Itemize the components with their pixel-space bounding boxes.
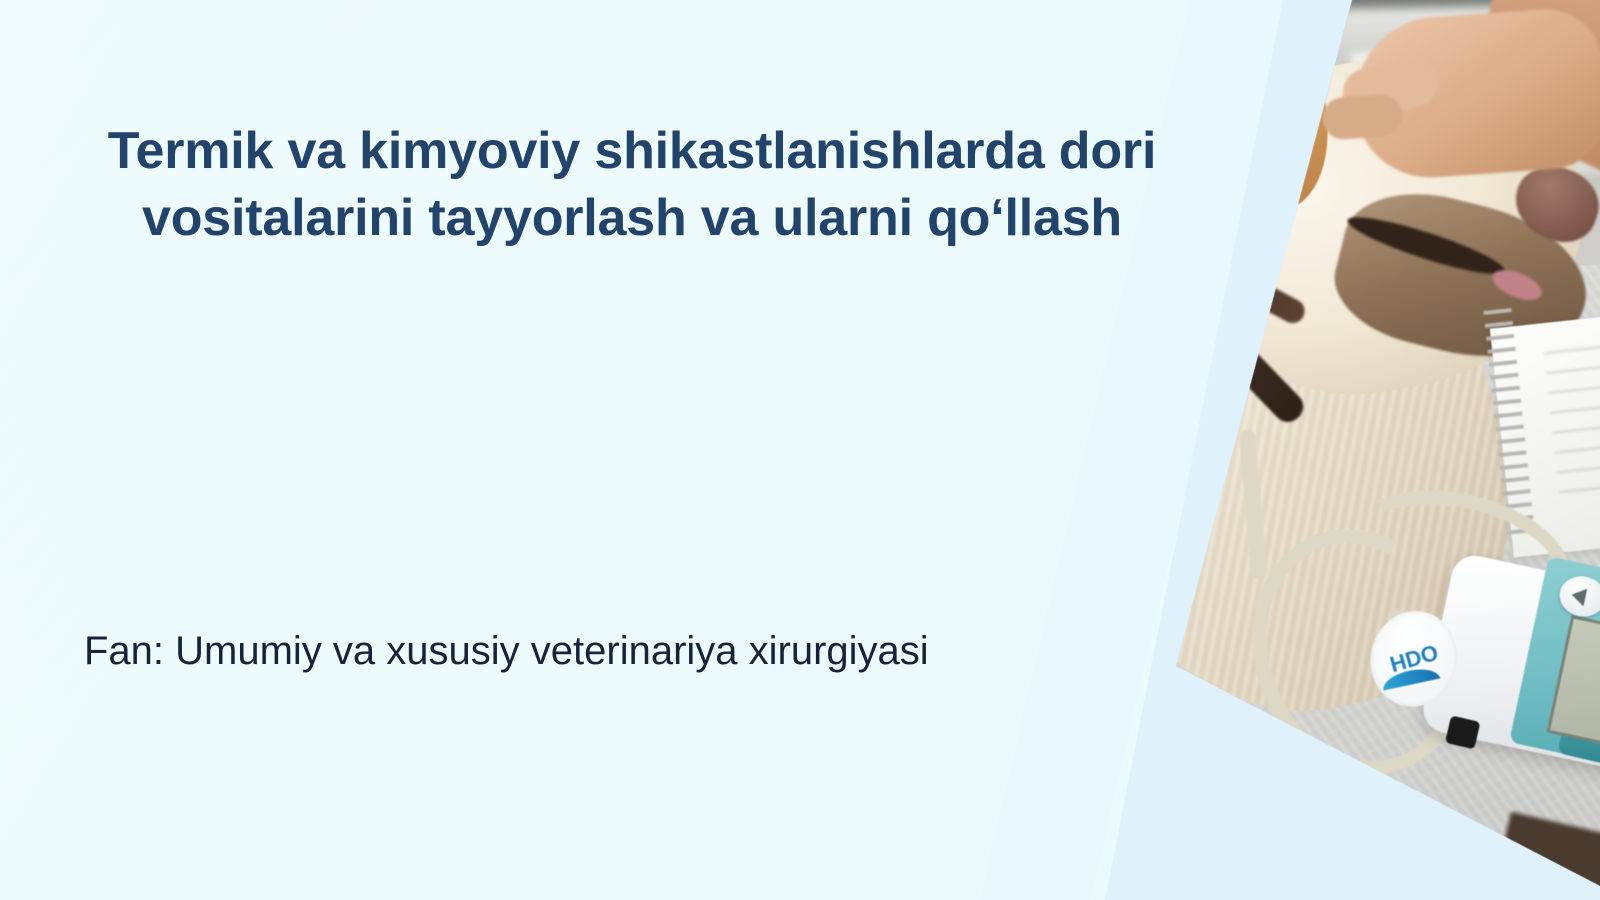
slide-subtitle: Fan: Umumiy va xususiy veterinariya xiru… xyxy=(84,627,1180,675)
photo-finger xyxy=(1321,93,1404,140)
slide-title: Termik va kimyoviy shikastlanishlarda do… xyxy=(84,118,1180,251)
presentation-slide: MENU HDO Termik va kimyoviy shikastlanis… xyxy=(0,0,1600,900)
